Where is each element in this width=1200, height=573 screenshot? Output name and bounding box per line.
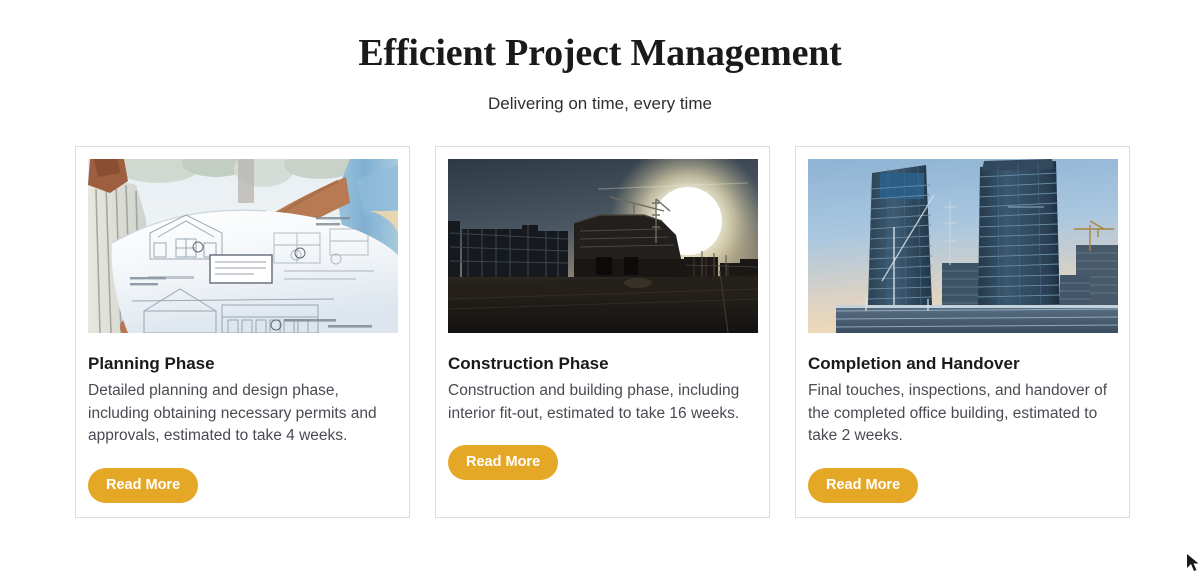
blueprint-review-photo xyxy=(88,159,398,333)
card-description: Final touches, inspections, and handover… xyxy=(808,380,1117,448)
card-description: Construction and building phase, includi… xyxy=(448,380,757,425)
card-title: Completion and Handover xyxy=(808,353,1117,375)
mouse-cursor xyxy=(1186,553,1200,573)
page-title: Efficient Project Management xyxy=(0,30,1200,76)
phase-card-planning[interactable]: Planning Phase Detailed planning and des… xyxy=(75,146,410,518)
read-more-button[interactable]: Read More xyxy=(808,468,918,503)
card-title: Planning Phase xyxy=(88,353,397,375)
phase-card-construction[interactable]: Construction Phase Construction and buil… xyxy=(435,146,770,518)
page-header: Efficient Project Management Delivering … xyxy=(0,0,1200,116)
card-title: Construction Phase xyxy=(448,353,757,375)
completed-glass-towers-photo xyxy=(808,159,1118,333)
read-more-button[interactable]: Read More xyxy=(448,445,558,480)
phase-cards-row: Planning Phase Detailed planning and des… xyxy=(75,146,1130,518)
read-more-button[interactable]: Read More xyxy=(88,468,198,503)
page-subtitle: Delivering on time, every time xyxy=(0,92,1200,116)
construction-site-sunset-photo xyxy=(448,159,758,333)
card-description: Detailed planning and design phase, incl… xyxy=(88,380,397,448)
phase-card-completion[interactable]: Completion and Handover Final touches, i… xyxy=(795,146,1130,518)
